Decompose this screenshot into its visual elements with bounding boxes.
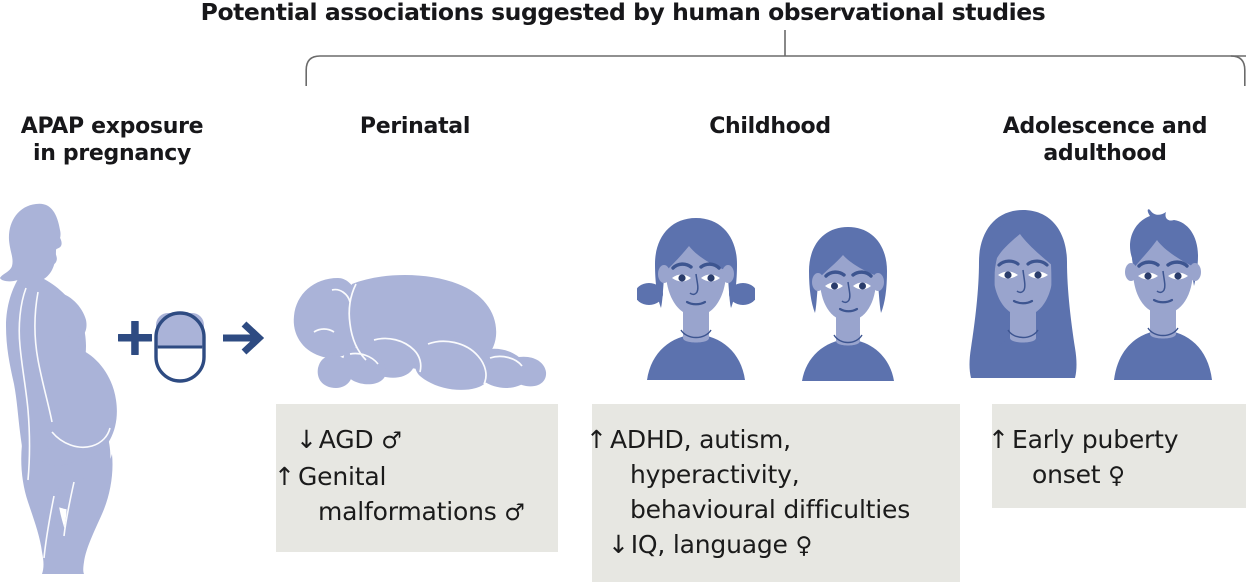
heading-line-2: in pregnancy <box>0 140 232 167</box>
right-arrow-icon <box>223 324 259 352</box>
outcome-box-perinatal: ↓AGD ♂ ↑Genital malformations ♂ <box>276 404 558 552</box>
plus-icon <box>118 321 152 355</box>
outcome-line: ↑Genital malformations ♂ <box>296 459 542 531</box>
figure-title: Potential associations suggested by huma… <box>0 0 1246 26</box>
sleeping-baby-icon <box>278 262 548 402</box>
bracket-right <box>1231 56 1245 86</box>
column-heading-adolescence: Adolescence and adulthood <box>985 113 1225 167</box>
column-heading-exposure: APAP exposure in pregnancy <box>0 113 232 167</box>
outcome-box-adolescence: ↑Early puberty onset ♀ <box>992 404 1246 508</box>
exposure-operator-row <box>116 296 264 391</box>
young-man-face-icon <box>1104 208 1222 385</box>
outcome-text: ADHD, autism, hyperactivity, behavioural… <box>610 425 910 524</box>
male-symbol-icon: ♂ <box>504 500 524 526</box>
outcome-line: ↑Early puberty onset ♀ <box>1010 422 1240 494</box>
column-heading-childhood: Childhood <box>650 113 890 140</box>
outcome-text: Early puberty onset <box>1012 425 1178 489</box>
boy-face-icon <box>792 223 904 386</box>
outcome-line: ↓AGD ♂ <box>296 422 542 459</box>
female-symbol-icon: ♀ <box>795 533 812 559</box>
outcome-text: IQ, language <box>631 530 796 559</box>
span-bracket <box>305 30 1246 86</box>
heading-line-1: Childhood <box>650 113 890 140</box>
heading-line-1: Adolescence and <box>985 113 1225 140</box>
female-symbol-icon: ♀ <box>1108 463 1125 489</box>
outcome-text: AGD <box>319 425 381 454</box>
male-symbol-icon: ♂ <box>381 428 401 454</box>
heading-line-1: Perinatal <box>295 113 535 140</box>
bracket-left <box>306 56 1246 86</box>
young-woman-face-icon <box>963 206 1083 389</box>
outcome-box-childhood: ↑ADHD, autism, hyperactivity, behavioura… <box>592 404 960 582</box>
girl-face-icon <box>637 212 755 385</box>
down-arrow-icon: ↓ <box>608 527 629 562</box>
outcome-text: Genital malformations <box>298 462 504 526</box>
figure-canvas: Potential associations suggested by huma… <box>0 0 1246 582</box>
heading-line-2: adulthood <box>985 140 1225 167</box>
heading-line-1: APAP exposure <box>0 113 232 140</box>
outcome-line: ↑ADHD, autism, hyperactivity, behavioura… <box>608 422 946 527</box>
outcome-line: ↓IQ, language ♀ <box>608 527 946 564</box>
column-heading-perinatal: Perinatal <box>295 113 535 140</box>
capsule-pill-icon <box>156 313 204 381</box>
down-arrow-icon: ↓ <box>296 422 317 457</box>
